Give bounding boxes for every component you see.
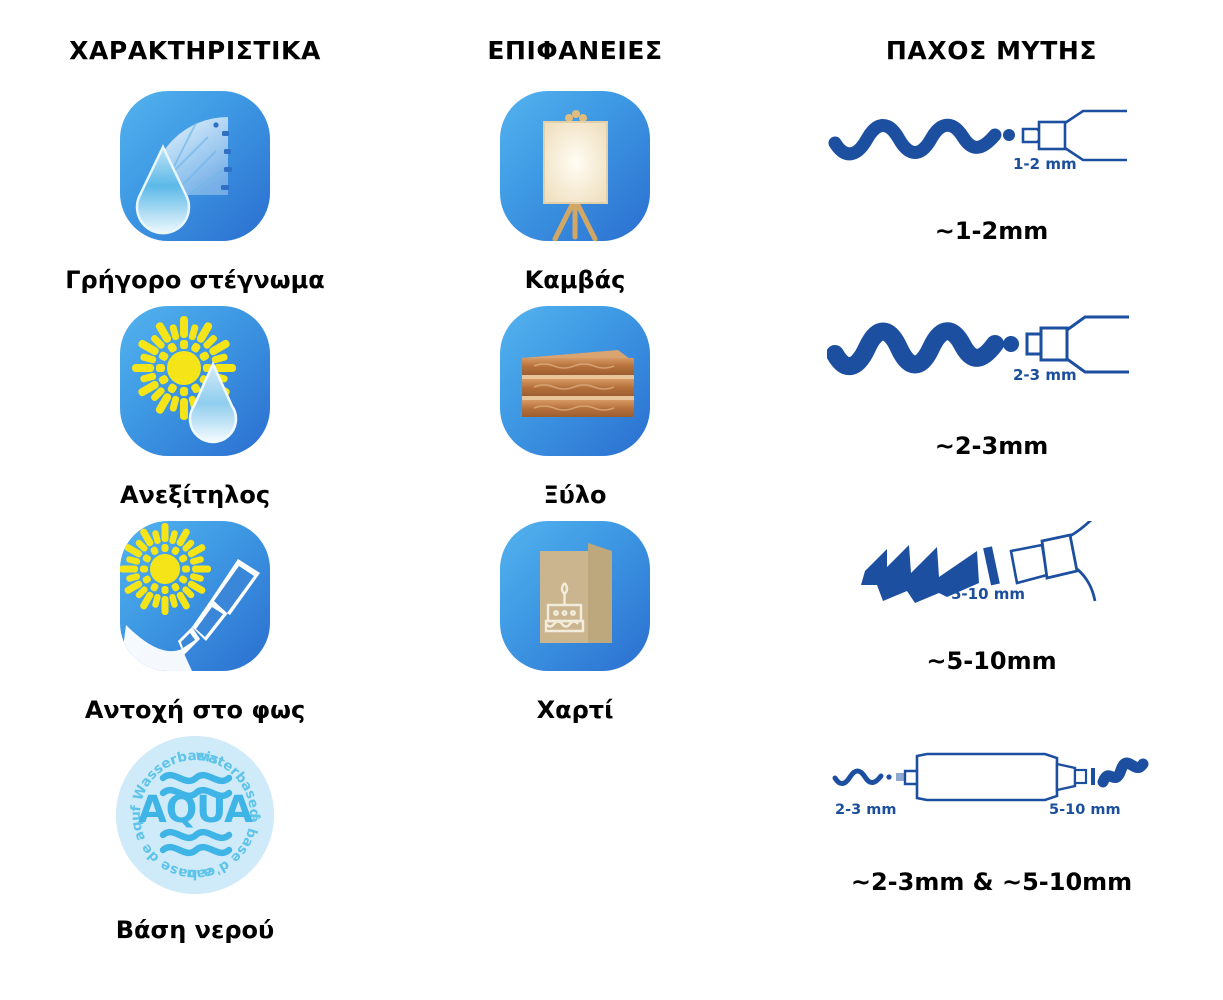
feature-label-lightfast: Αντοχή στο φως [85, 696, 305, 724]
nib-label-broad: ~5-10mm [926, 647, 1056, 675]
column-surfaces: ΕΠΙΦΑΝΕΙΕΣ [390, 0, 760, 1000]
column-header-nib-thickness: ΠΑΧΟΣ ΜΥΤΗΣ [886, 36, 1097, 65]
feature-item-quick-drying: Γρήγορο στέγνωμα [65, 91, 325, 306]
column-nib-thickness: ΠΑΧΟΣ ΜΥΤΗΣ 1-2 mm ~1-2mm [760, 0, 1223, 1000]
feature-item-lightfast: Αντοχή στο φως [85, 521, 305, 736]
bullet-nib-icon-medium: 2-3 mm [827, 306, 1157, 426]
nib-item-medium: 2-3 mm ~2-3mm [827, 306, 1157, 521]
wood-planks-icon [500, 306, 650, 456]
nib-label-fine: ~1-2mm [935, 217, 1048, 245]
product-feature-infographic: ΧΑΡΑΚΤΗΡΙΣΤΙΚΑ [0, 0, 1223, 1000]
easel-canvas-icon [500, 91, 650, 241]
dual-tip-marker-icon: 2-3 mm 5-10 mm [827, 736, 1157, 856]
chisel-nib-icon: 5-10 mm [827, 521, 1157, 641]
aqua-center-text: AQUA [138, 788, 253, 831]
feature-item-permanent: Ανεξίτηλος [120, 306, 270, 521]
surface-label-wood: Ξύλο [543, 481, 606, 509]
nib-item-fine: 1-2 mm ~1-2mm [827, 91, 1157, 306]
bullet-nib-icon: 1-2 mm [827, 91, 1157, 211]
sun-waterdrop-icon [120, 306, 270, 456]
aqua-waterbased-badge: auf Wasserbasis waterbased à base d'eau … [116, 736, 274, 894]
nib-tip-label-dual-left: 2-3 mm [835, 802, 896, 818]
nib-label-medium: ~2-3mm [935, 432, 1048, 460]
feature-label-waterbased: Βάση νερού [116, 916, 275, 944]
greeting-card-paper-icon [500, 521, 650, 671]
nib-tip-label-medium: 2-3 mm [1013, 366, 1077, 384]
nib-label-dual: ~2-3mm & ~5-10mm [851, 868, 1132, 896]
nib-item-broad: 5-10 mm ~5-10mm [827, 521, 1157, 736]
column-header-characteristics: ΧΑΡΑΚΤΗΡΙΣΤΙΚΑ [69, 36, 321, 65]
quick-drying-icon [120, 91, 270, 241]
nib-item-dual: 2-3 mm 5-10 mm ~2-3mm & ~5-10mm [827, 736, 1157, 951]
feature-item-waterbased: auf Wasserbasis waterbased à base d'eau … [116, 736, 275, 951]
feature-label-quick-drying: Γρήγορο στέγνωμα [65, 266, 325, 294]
surface-label-canvas: Καμβάς [525, 266, 626, 294]
column-characteristics: ΧΑΡΑΚΤΗΡΙΣΤΙΚΑ [0, 0, 390, 1000]
feature-label-permanent: Ανεξίτηλος [120, 481, 270, 509]
surface-item-paper: Χαρτί [500, 521, 650, 736]
column-header-surfaces: ΕΠΙΦΑΝΕΙΕΣ [487, 36, 662, 65]
lightfast-marker-icon [120, 521, 270, 671]
nib-tip-label-fine: 1-2 mm [1013, 155, 1077, 173]
surface-item-canvas: Καμβάς [500, 91, 650, 306]
nib-tip-label-dual-right: 5-10 mm [1049, 802, 1121, 818]
nib-tip-label-broad: 5-10 mm [951, 585, 1025, 603]
surface-label-paper: Χαρτί [537, 696, 614, 724]
surface-item-wood: Ξύλο [500, 306, 650, 521]
